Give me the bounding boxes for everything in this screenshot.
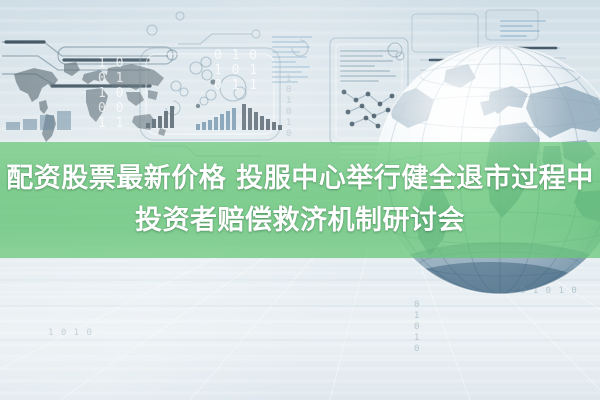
banner-title: 配资股票最新价格 投服中心举行健全退市过程中 投资者赔偿救济机制研讨会 — [0, 142, 600, 258]
banner-image: 1 0 0 1 1 0 0 0 1 1 0 1 0 1 0 1 0 1 1 1 … — [0, 0, 600, 400]
title-line-1: 配资股票最新价格 投服中心举行健全退市过程中 — [6, 159, 593, 199]
title-line-2: 投资者赔偿救济机制研讨会 — [135, 201, 465, 241]
world-map-silhouette — [8, 58, 173, 146]
